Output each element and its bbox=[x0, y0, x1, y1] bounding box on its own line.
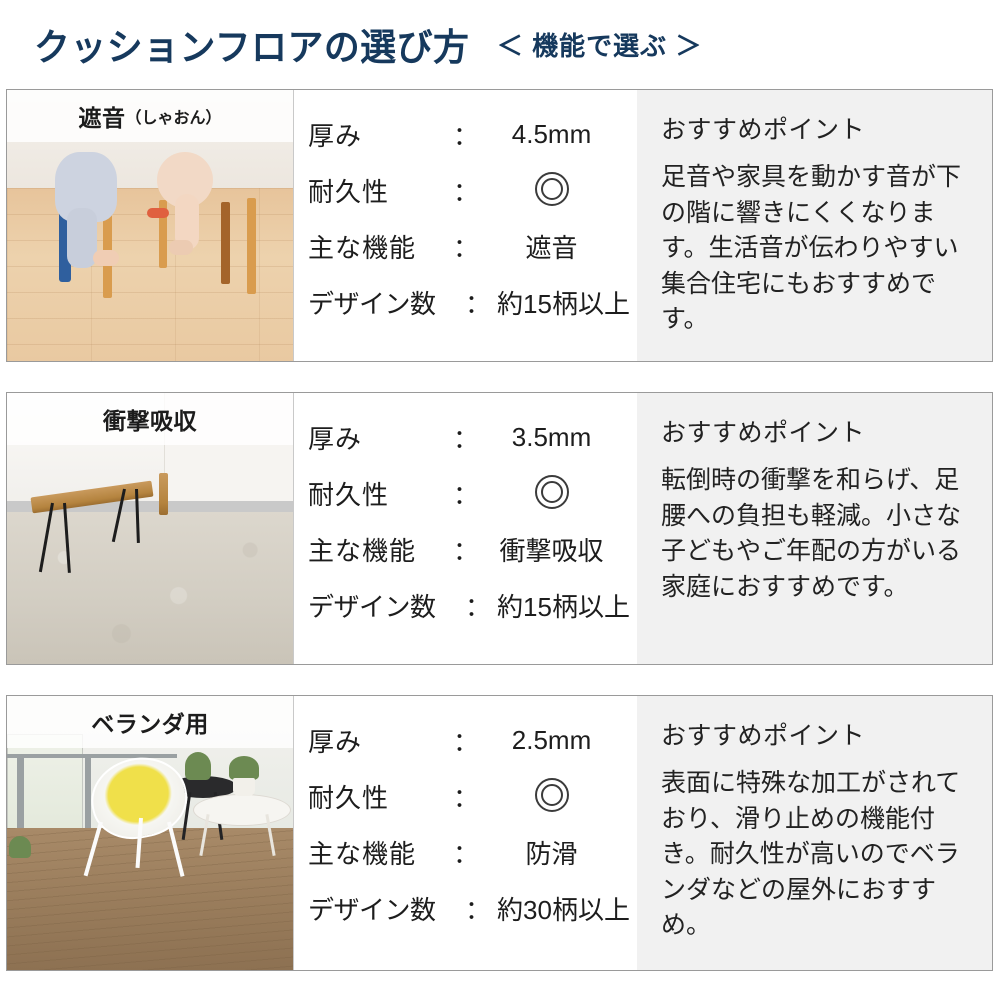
card-photo-balcony: ベランダ用 bbox=[7, 696, 293, 970]
double-circle-icon bbox=[535, 475, 569, 509]
chair-leg bbox=[221, 202, 230, 284]
page-header: クッションフロアの選び方 ＜ 機能で選ぶ ＞ bbox=[0, 0, 1000, 88]
spec-row-thickness: 厚み ： 4.5mm bbox=[308, 106, 637, 162]
spec-colon: ： bbox=[448, 778, 484, 815]
double-circle-icon bbox=[535, 778, 569, 812]
page-title: クッションフロアの選び方 bbox=[34, 17, 469, 71]
card-label-badge: ベランダ用 bbox=[7, 696, 293, 748]
spec-table: 厚み ： 2.5mm 耐久性 ： 主な機能 ： 防滑 デザイン数 ： 約30柄以… bbox=[293, 696, 637, 970]
recommend-body: 表面に特殊な加工がされており、滑り止めの機能付き。耐久性が高いのでベランダなどの… bbox=[661, 766, 972, 944]
railing-post bbox=[85, 754, 91, 834]
spec-value-durability bbox=[484, 475, 637, 511]
spec-row-design-count: デザイン数 ： 約30柄以上 bbox=[308, 880, 637, 936]
potted-plant bbox=[185, 752, 211, 780]
card-label-badge: 衝撃吸収 bbox=[7, 393, 293, 445]
spec-colon: ： bbox=[460, 284, 496, 321]
spec-key-thickness: 厚み bbox=[308, 419, 448, 456]
spec-key-function: 主な機能 bbox=[308, 531, 448, 568]
scene-concrete-floor bbox=[7, 512, 293, 664]
spec-value-thickness: 2.5mm bbox=[484, 725, 637, 756]
spec-key-durability: 耐久性 bbox=[308, 778, 448, 815]
child-foot bbox=[93, 250, 119, 266]
spec-row-thickness: 厚み ： 3.5mm bbox=[308, 409, 637, 465]
potted-plant bbox=[9, 836, 31, 858]
potted-plant bbox=[229, 756, 259, 780]
spec-value-function: 遮音 bbox=[484, 228, 637, 265]
spec-colon: ： bbox=[448, 722, 484, 759]
red-object bbox=[147, 208, 169, 218]
spec-row-design-count: デザイン数 ： 約15柄以上 bbox=[308, 274, 637, 330]
spec-key-thickness: 厚み bbox=[308, 722, 448, 759]
spec-value-function: 防滑 bbox=[484, 834, 637, 871]
spec-table: 厚み ： 4.5mm 耐久性 ： 主な機能 ： 遮音 デザイン数 ： 約15柄以… bbox=[293, 90, 637, 361]
spec-key-durability: 耐久性 bbox=[308, 172, 448, 209]
spec-table: 厚み ： 3.5mm 耐久性 ： 主な機能 ： 衝撃吸収 デザイン数 ： 約15… bbox=[293, 393, 637, 664]
spec-key-design-count: デザイン数 bbox=[308, 587, 460, 624]
card-label-kana: （しゃおん） bbox=[125, 104, 221, 128]
spec-key-durability: 耐久性 bbox=[308, 475, 448, 512]
spec-value-design-count: 約15柄以上 bbox=[496, 587, 637, 624]
card-photo-soundproof: 遮音（しゃおん） bbox=[7, 90, 293, 361]
plant-pot bbox=[233, 778, 255, 796]
scene-wood-deck bbox=[7, 828, 293, 970]
spec-row-function: 主な機能 ： 防滑 bbox=[308, 824, 637, 880]
spec-value-thickness: 4.5mm bbox=[484, 119, 637, 150]
spec-row-function: 主な機能 ： 衝撃吸収 bbox=[308, 521, 637, 577]
spec-value-durability bbox=[484, 778, 637, 814]
recommend-heading: おすすめポイント bbox=[661, 413, 972, 449]
spec-value-durability bbox=[484, 172, 637, 208]
spec-key-thickness: 厚み bbox=[308, 116, 448, 153]
card-label-badge: 遮音（しゃおん） bbox=[7, 90, 293, 142]
spec-colon: ： bbox=[448, 116, 484, 153]
spec-row-thickness: 厚み ： 2.5mm bbox=[308, 712, 637, 768]
spec-value-thickness: 3.5mm bbox=[484, 422, 637, 453]
spec-key-function: 主な機能 bbox=[308, 834, 448, 871]
spec-value-design-count: 約15柄以上 bbox=[496, 284, 637, 321]
spec-row-function: 主な機能 ： 遮音 bbox=[308, 218, 637, 274]
spec-row-design-count: デザイン数 ： 約15柄以上 bbox=[308, 577, 637, 633]
child-foot bbox=[169, 240, 193, 255]
feature-card[interactable]: 衝撃吸収 厚み ： 3.5mm 耐久性 ： 主な機能 ： 衝撃吸収 デザイン数 … bbox=[6, 392, 993, 665]
recommend-panel: おすすめポイント 足音や家具を動かす音が下の階に響きにくくなります。生活音が伝わ… bbox=[637, 90, 992, 361]
spec-row-durability: 耐久性 ： bbox=[308, 768, 637, 824]
furniture-leg bbox=[159, 473, 168, 515]
chair-leg bbox=[247, 198, 256, 294]
card-label-text: ベランダ用 bbox=[91, 705, 209, 739]
spec-colon: ： bbox=[448, 475, 484, 512]
feature-card[interactable]: ベランダ用 厚み ： 2.5mm 耐久性 ： 主な機能 ： 防滑 デザイン数 ：… bbox=[6, 695, 993, 971]
recommend-body: 足音や家具を動かす音が下の階に響きにくくなります。生活音が伝わりやすい集合住宅に… bbox=[661, 160, 972, 338]
spec-key-design-count: デザイン数 bbox=[308, 284, 460, 321]
recommend-body: 転倒時の衝撃を和らげ、足腰への負担も軽減。小さな子どもやご年配の方がいる家庭にお… bbox=[661, 463, 972, 605]
double-circle-icon bbox=[535, 172, 569, 206]
spec-colon: ： bbox=[460, 890, 496, 927]
recommend-heading: おすすめポイント bbox=[661, 110, 972, 146]
card-label-text: 遮音 bbox=[78, 99, 125, 133]
spec-colon: ： bbox=[448, 419, 484, 456]
spec-colon: ： bbox=[448, 228, 484, 265]
spec-row-durability: 耐久性 ： bbox=[308, 162, 637, 218]
spec-colon: ： bbox=[448, 834, 484, 871]
spec-row-durability: 耐久性 ： bbox=[308, 465, 637, 521]
spec-colon: ： bbox=[448, 172, 484, 209]
spec-value-function: 衝撃吸収 bbox=[484, 531, 637, 568]
spec-key-design-count: デザイン数 bbox=[308, 890, 460, 927]
recommend-heading: おすすめポイント bbox=[661, 716, 972, 752]
spec-colon: ： bbox=[460, 587, 496, 624]
page-subtitle: ＜ 機能で選ぶ ＞ bbox=[497, 26, 702, 63]
spec-key-function: 主な機能 bbox=[308, 228, 448, 265]
spec-colon: ： bbox=[448, 531, 484, 568]
card-label-text: 衝撃吸収 bbox=[103, 402, 197, 436]
feature-card[interactable]: 遮音（しゃおん） 厚み ： 4.5mm 耐久性 ： 主な機能 ： 遮音 デザイン… bbox=[6, 89, 993, 362]
card-photo-shock-absorb: 衝撃吸収 bbox=[7, 393, 293, 664]
recommend-panel: おすすめポイント 表面に特殊な加工がされており、滑り止めの機能付き。耐久性が高い… bbox=[637, 696, 992, 970]
spec-value-design-count: 約30柄以上 bbox=[496, 890, 637, 927]
recommend-panel: おすすめポイント 転倒時の衝撃を和らげ、足腰への負担も軽減。小さな子どもやご年配… bbox=[637, 393, 992, 664]
